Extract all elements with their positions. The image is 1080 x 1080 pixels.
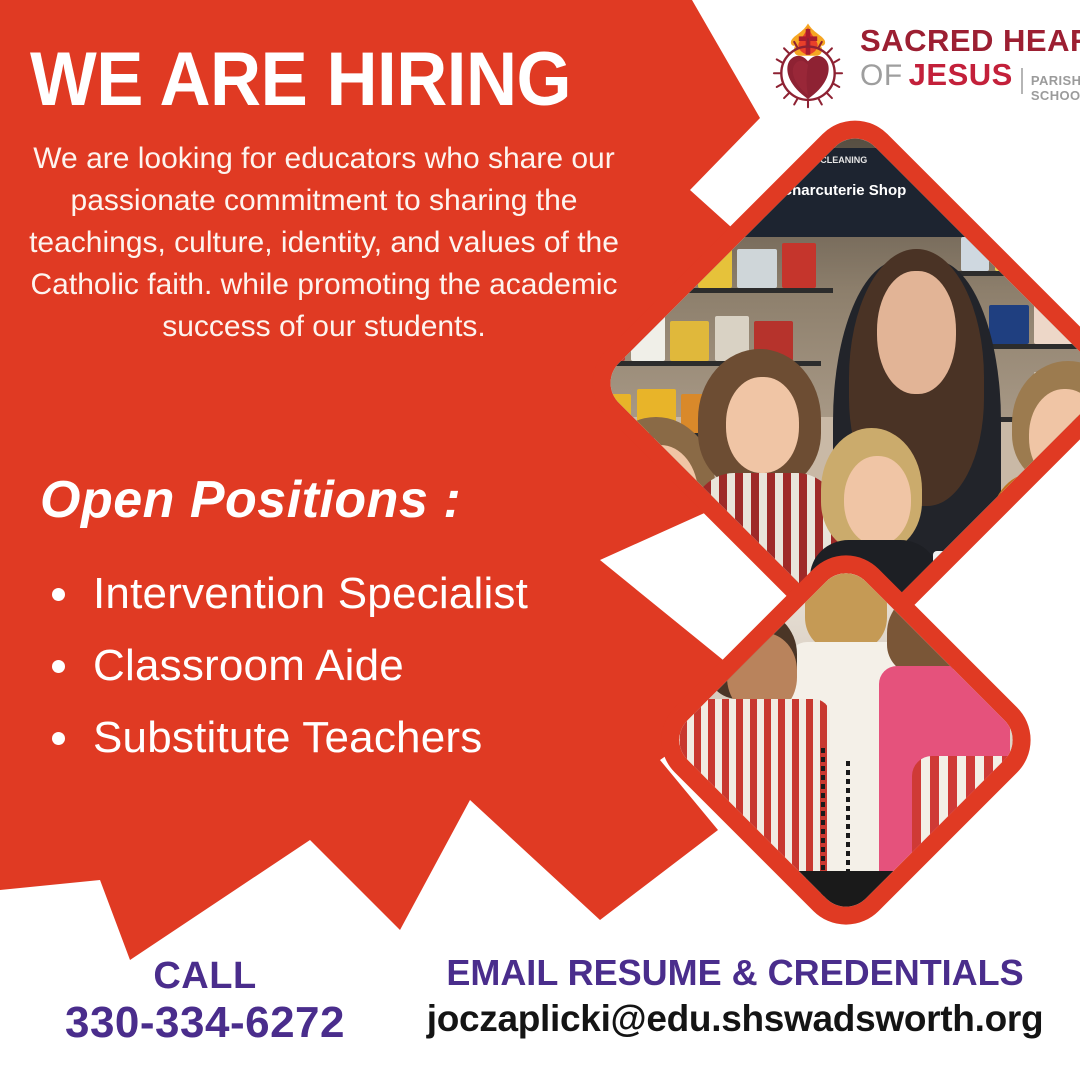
list-item: Substitute Teachers	[52, 716, 528, 760]
logo-subtitle-line1: PARISH &	[1031, 74, 1080, 89]
hiring-flyer: WE ARE HIRING We are looking for educato…	[0, 0, 1080, 1080]
store-sign-text: Charcuterie Shop	[721, 182, 967, 199]
organization-logo: SACRED HEART OF JESUS PARISH & SCHOOL	[762, 14, 1062, 114]
photo-diamond-students-praying	[642, 536, 1049, 943]
email-label: EMAIL RESUME & CREDENTIALS	[405, 952, 1065, 994]
bullet-icon	[52, 732, 65, 745]
list-item: Intervention Specialist	[52, 572, 528, 616]
phone-number[interactable]: 330-334-6272	[0, 998, 410, 1048]
list-item: Classroom Aide	[52, 644, 528, 688]
photo-clip	[642, 536, 1049, 943]
position-label: Substitute Teachers	[93, 716, 482, 760]
position-label: Classroom Aide	[93, 644, 404, 688]
email-address[interactable]: joczaplicki@edu.shswadsworth.org	[395, 998, 1075, 1040]
bullet-icon	[52, 588, 65, 601]
intro-paragraph: We are looking for educators who share o…	[28, 138, 620, 348]
bullet-icon	[52, 660, 65, 673]
logo-divider	[1021, 68, 1023, 94]
logo-subtitle: PARISH & SCHOOL	[1031, 74, 1080, 104]
logo-of-text: OF	[860, 61, 903, 91]
open-positions-list: Intervention Specialist Classroom Aide S…	[52, 572, 528, 788]
logo-jesus-text: JESUS	[909, 59, 1013, 90]
position-label: Intervention Specialist	[93, 572, 528, 616]
store-sign: CLEANING Charcuterie Shop	[721, 148, 967, 238]
store-sign-small-text: CLEANING	[721, 155, 967, 165]
logo-line-of-jesus: OF JESUS PARISH & SCHOOL	[860, 59, 1080, 104]
open-positions-heading: Open Positions :	[40, 470, 461, 530]
photo-students-praying-with-rosaries	[642, 536, 1049, 943]
rosary-beads	[846, 761, 850, 884]
sacred-heart-emblem-icon	[762, 18, 854, 110]
logo-wordmark: SACRED HEART OF JESUS PARISH & SCHOOL	[860, 25, 1080, 104]
logo-subtitle-line2: SCHOOL	[1031, 89, 1080, 104]
call-label: CALL	[0, 955, 410, 998]
logo-line-sacred-heart: SACRED HEART	[860, 25, 1080, 56]
page-title: WE ARE HIRING	[30, 42, 625, 118]
